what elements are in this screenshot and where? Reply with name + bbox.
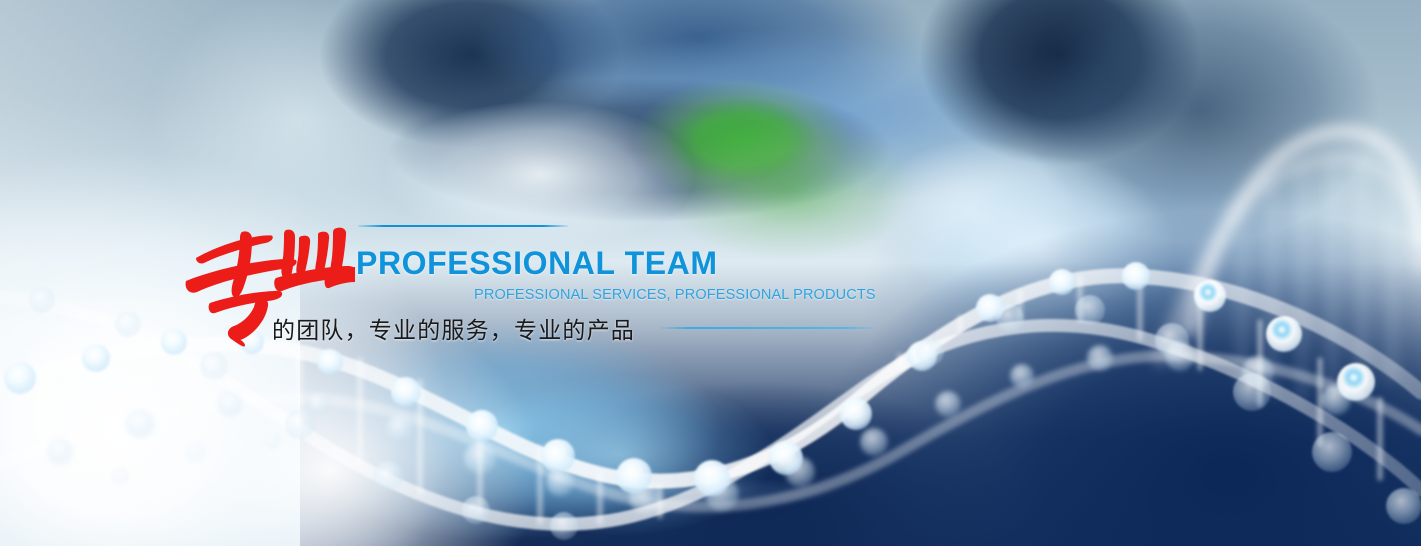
- subheadline-english: PROFESSIONAL SERVICES, PROFESSIONAL PROD…: [474, 287, 876, 303]
- tagline-chinese: 的团队，专业的服务，专业的产品: [272, 311, 635, 345]
- headline-english: PROFESSIONAL TEAM: [356, 245, 718, 282]
- hero-banner: PROFESSIONAL TEAM PROFESSIONAL SERVICES,…: [0, 0, 1421, 546]
- bottom-accent-rule: [660, 327, 875, 329]
- top-accent-rule: [358, 225, 568, 227]
- banner-text-block: PROFESSIONAL TEAM PROFESSIONAL SERVICES,…: [180, 205, 900, 355]
